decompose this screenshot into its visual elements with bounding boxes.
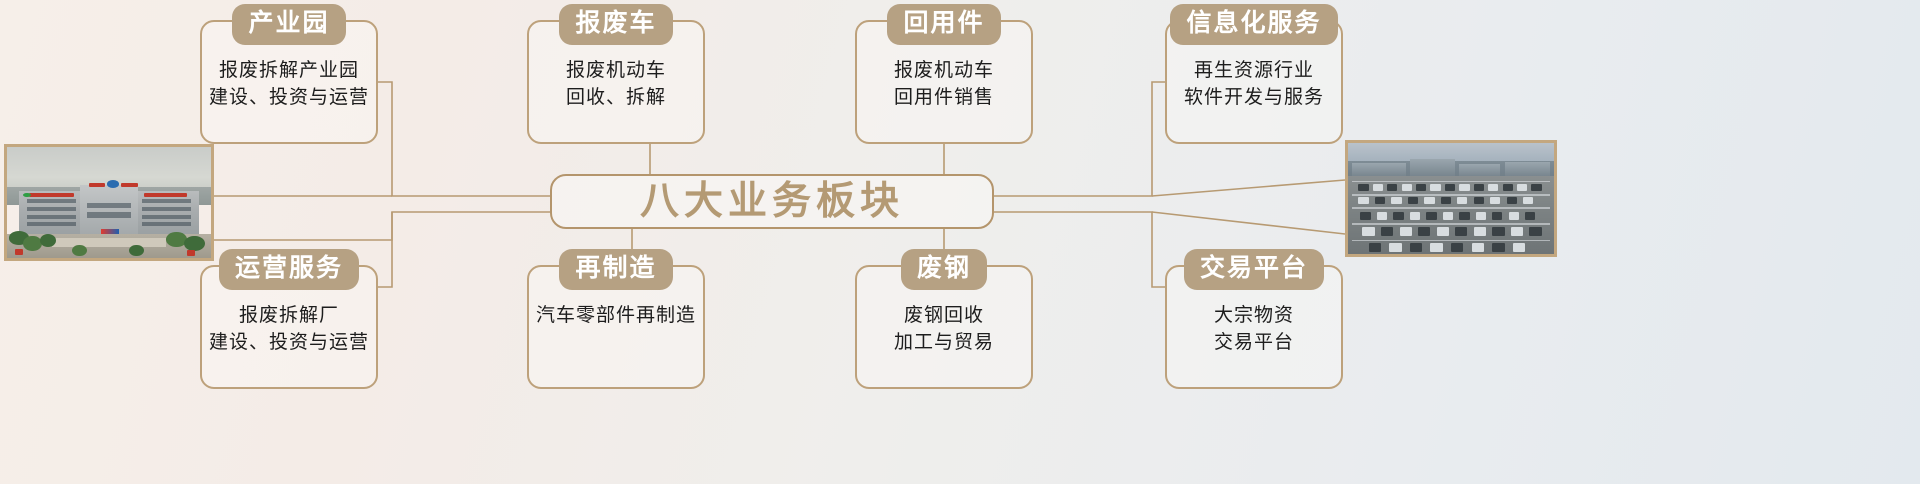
business-card-scrap-steel[interactable]: 废钢 废钢回收 加工与贸易 <box>855 265 1033 389</box>
card-body-operation-service: 报废拆解厂 建设、投资与运营 <box>209 303 369 357</box>
card-body-information-service: 再生资源行业 软件开发与服务 <box>1184 58 1324 112</box>
business-card-information-service[interactable]: 信息化服务 再生资源行业 软件开发与服务 <box>1165 20 1343 144</box>
vehicle-yard-aerial-photo <box>1345 140 1557 257</box>
card-badge-remanufacturing: 再制造 <box>559 249 672 290</box>
card-badge-information-service: 信息化服务 <box>1170 4 1337 45</box>
card-body-scrap-steel: 废钢回收 加工与贸易 <box>894 303 994 357</box>
business-card-trading-platform[interactable]: 交易平台 大宗物资 交易平台 <box>1165 265 1343 389</box>
card-body-industrial-park: 报废拆解产业园 建设、投资与运营 <box>209 58 369 112</box>
card-body-remanufacturing: 汽车零部件再制造 <box>536 303 696 330</box>
business-card-scrap-vehicle[interactable]: 报废车 报废机动车 回收、拆解 <box>527 20 705 144</box>
card-badge-trading-platform: 交易平台 <box>1184 249 1324 290</box>
card-badge-operation-service: 运营服务 <box>219 249 359 290</box>
central-node[interactable]: 八大业务板块 <box>550 174 994 229</box>
card-badge-industrial-park: 产业园 <box>232 4 345 45</box>
business-card-reusable-parts[interactable]: 回用件 报废机动车 回用件销售 <box>855 20 1033 144</box>
card-body-scrap-vehicle: 报废机动车 回收、拆解 <box>566 58 666 112</box>
central-node-title: 八大业务板块 <box>640 182 904 221</box>
office-building-photo <box>4 144 214 261</box>
card-badge-scrap-steel: 废钢 <box>901 249 987 290</box>
business-card-remanufacturing[interactable]: 再制造 汽车零部件再制造 <box>527 265 705 389</box>
card-badge-reusable-parts: 回用件 <box>887 4 1000 45</box>
business-card-industrial-park[interactable]: 产业园 报废拆解产业园 建设、投资与运营 <box>200 20 378 144</box>
mindmap-canvas: 八大业务板块 产业园 报废拆解产业园 建设、投资与运营 报废车 报废机动车 回收… <box>0 0 1920 484</box>
card-badge-scrap-vehicle: 报废车 <box>559 4 672 45</box>
card-body-trading-platform: 大宗物资 交易平台 <box>1214 303 1294 357</box>
card-body-reusable-parts: 报废机动车 回用件销售 <box>894 58 994 112</box>
business-card-operation-service[interactable]: 运营服务 报废拆解厂 建设、投资与运营 <box>200 265 378 389</box>
